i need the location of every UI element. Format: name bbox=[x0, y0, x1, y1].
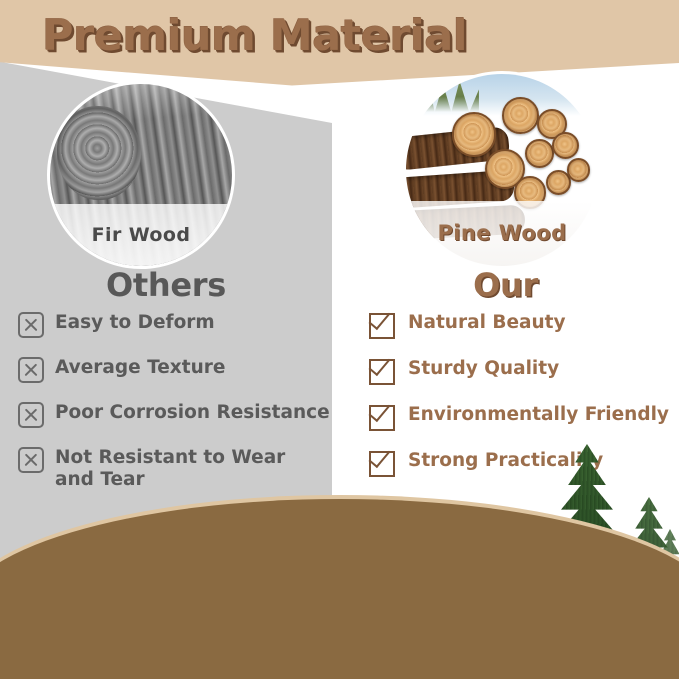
x-mark-icon bbox=[18, 447, 44, 473]
premium-material-poster: Premium Material Fir Wood Pine Wood Othe… bbox=[0, 0, 679, 679]
list-item-label: Not Resistant to Wear and Tear bbox=[55, 446, 303, 491]
pine-wood-caption: Pine Wood bbox=[406, 201, 598, 266]
list-item: Natural Beauty bbox=[369, 311, 679, 339]
list-item: Average Texture bbox=[18, 356, 333, 383]
list-item-label: Average Texture bbox=[55, 356, 225, 379]
check-mark-icon bbox=[369, 313, 395, 339]
list-item: Not Resistant to Wear and Tear bbox=[18, 446, 333, 491]
list-item-label: Poor Corrosion Resistance bbox=[55, 401, 330, 424]
pine-log-end bbox=[567, 158, 590, 181]
x-mark-icon bbox=[18, 357, 44, 383]
pine-log-end bbox=[525, 139, 554, 168]
fir-wood-caption: Fir Wood bbox=[50, 204, 232, 266]
x-mark-icon bbox=[18, 312, 44, 338]
list-item-label: Easy to Deform bbox=[55, 311, 215, 334]
others-feature-list: Easy to Deform Average Texture Poor Corr… bbox=[18, 311, 333, 509]
pine-log-end bbox=[452, 112, 496, 156]
x-mark-icon bbox=[18, 402, 44, 428]
bottom-brown-band bbox=[0, 499, 679, 679]
list-item-label: Natural Beauty bbox=[408, 311, 566, 334]
pine-log-end bbox=[502, 97, 539, 134]
our-heading: Our bbox=[332, 266, 679, 304]
list-item-label: Sturdy Quality bbox=[408, 357, 559, 380]
fir-wood-badge: Fir Wood bbox=[50, 84, 232, 266]
pine-wood-badge: Pine Wood bbox=[406, 74, 598, 266]
others-heading: Others bbox=[0, 266, 332, 304]
pine-log-end bbox=[552, 132, 579, 159]
page-title: Premium Material bbox=[42, 11, 467, 61]
list-item: Easy to Deform bbox=[18, 311, 333, 338]
list-item: Poor Corrosion Resistance bbox=[18, 401, 333, 428]
